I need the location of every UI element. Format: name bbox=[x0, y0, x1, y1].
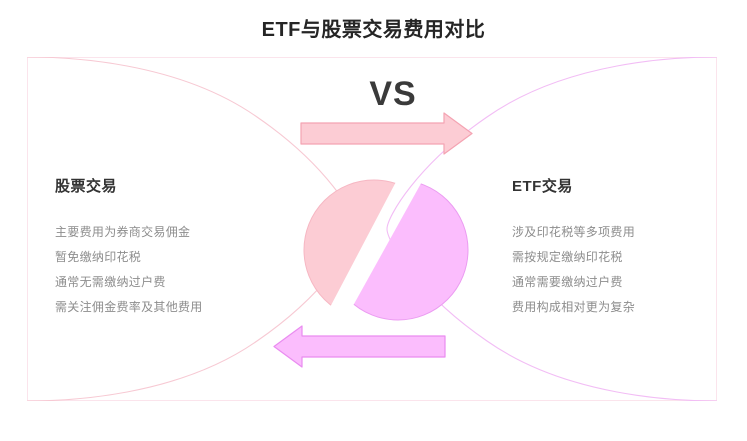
page-title: ETF与股票交易费用对比 bbox=[0, 16, 747, 44]
list-item: 费用构成相对更为复杂 bbox=[512, 295, 742, 320]
column-heading-right: ETF交易 bbox=[512, 176, 742, 198]
list-item: 涉及印花税等多项费用 bbox=[512, 220, 742, 245]
feature-list-right: 涉及印花税等多项费用 需按规定缴纳印花税 通常需要缴纳过户费 费用构成相对更为复… bbox=[512, 220, 742, 320]
column-heading-left: 股票交易 bbox=[55, 176, 285, 198]
column-etf-trading: ETF交易 涉及印花税等多项费用 需按规定缴纳印花税 通常需要缴纳过户费 费用构… bbox=[512, 176, 742, 320]
feature-list-left: 主要费用为券商交易佣金 暂免缴纳印花税 通常无需缴纳过户费 需关注佣金费率及其他… bbox=[55, 220, 285, 320]
vs-label: VS bbox=[343, 74, 443, 114]
list-item: 需按规定缴纳印花税 bbox=[512, 245, 742, 270]
list-item: 暂免缴纳印花税 bbox=[55, 245, 285, 270]
column-stock-trading: 股票交易 主要费用为券商交易佣金 暂免缴纳印花税 通常无需缴纳过户费 需关注佣金… bbox=[55, 176, 285, 320]
list-item: 通常需要缴纳过户费 bbox=[512, 270, 742, 295]
list-item: 通常无需缴纳过户费 bbox=[55, 270, 285, 295]
list-item: 需关注佣金费率及其他费用 bbox=[55, 295, 285, 320]
list-item: 主要费用为券商交易佣金 bbox=[55, 220, 285, 245]
